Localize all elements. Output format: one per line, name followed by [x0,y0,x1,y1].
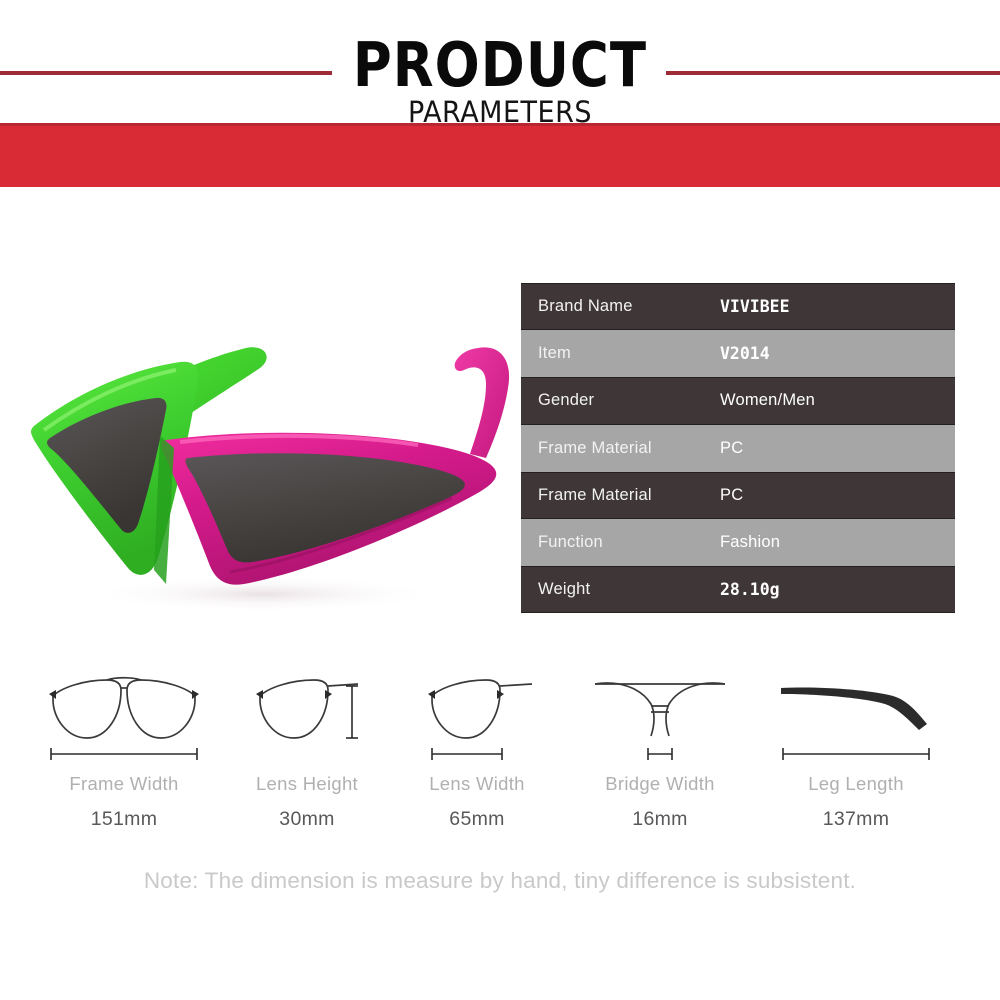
dimension-value: 16mm [632,808,687,831]
header-red-band [0,123,1000,187]
dimension-label: Frame Width [69,773,178,795]
lens-height-icon [242,666,372,771]
spec-label: Frame Material [521,439,720,458]
table-row: Gender Women/Men [521,377,955,424]
spec-value: Women/Men [720,391,815,410]
table-row: Frame Material PC [521,425,955,472]
spec-label: Item [521,344,720,363]
specification-table: Brand Name VIVIBEE Item V2014 Gender Wom… [521,283,955,613]
dimension-bridge-width: Bridge Width 16mm [562,666,758,846]
table-row: Brand Name VIVIBEE [521,283,955,330]
spec-value: V2014 [720,344,770,363]
spec-label: Brand Name [521,297,720,316]
leg-length-icon [771,666,941,771]
dimension-row: Frame Width 151mm Lens Height 30mm [26,666,974,846]
right-temple-arm [455,347,509,458]
spec-label: Gender [521,391,720,410]
dimension-frame-width: Frame Width 151mm [26,666,222,846]
bridge-width-icon [585,666,735,771]
dimension-value: 30mm [279,808,334,831]
product-shadow [88,576,438,612]
table-row: Weight 28.10g [521,566,955,613]
table-row: Frame Material PC [521,472,955,519]
dimension-label: Leg Length [808,773,904,795]
spec-value: 28.10g [720,580,780,599]
page-header: PRODUCT PARAMETERS [0,0,1000,200]
dimension-value: 137mm [823,808,890,831]
lens-width-icon [412,666,542,771]
dimension-leg-length: Leg Length 137mm [758,666,954,846]
measurement-note: Note: The dimension is measure by hand, … [0,868,1000,894]
dimension-value: 151mm [91,808,158,831]
spec-label: Weight [521,580,720,599]
dimension-lens-width: Lens Width 65mm [392,666,562,846]
table-row: Item V2014 [521,330,955,377]
spec-value: Fashion [720,533,780,552]
product-image [8,318,514,614]
spec-label: Function [521,533,720,552]
spec-value: PC [720,486,743,505]
dimension-lens-height: Lens Height 30mm [222,666,392,846]
spec-label: Frame Material [521,486,720,505]
dimension-label: Lens Height [256,773,358,795]
page-title: PRODUCT [0,34,1000,98]
frame-width-icon [39,666,209,771]
spec-value: VIVIBEE [720,297,790,316]
table-row: Function Fashion [521,519,955,566]
spec-value: PC [720,439,743,458]
dimension-label: Bridge Width [605,773,715,795]
header-title-block: PRODUCT PARAMETERS [0,34,1000,126]
dimension-value: 65mm [449,808,504,831]
dimension-label: Lens Width [429,773,525,795]
